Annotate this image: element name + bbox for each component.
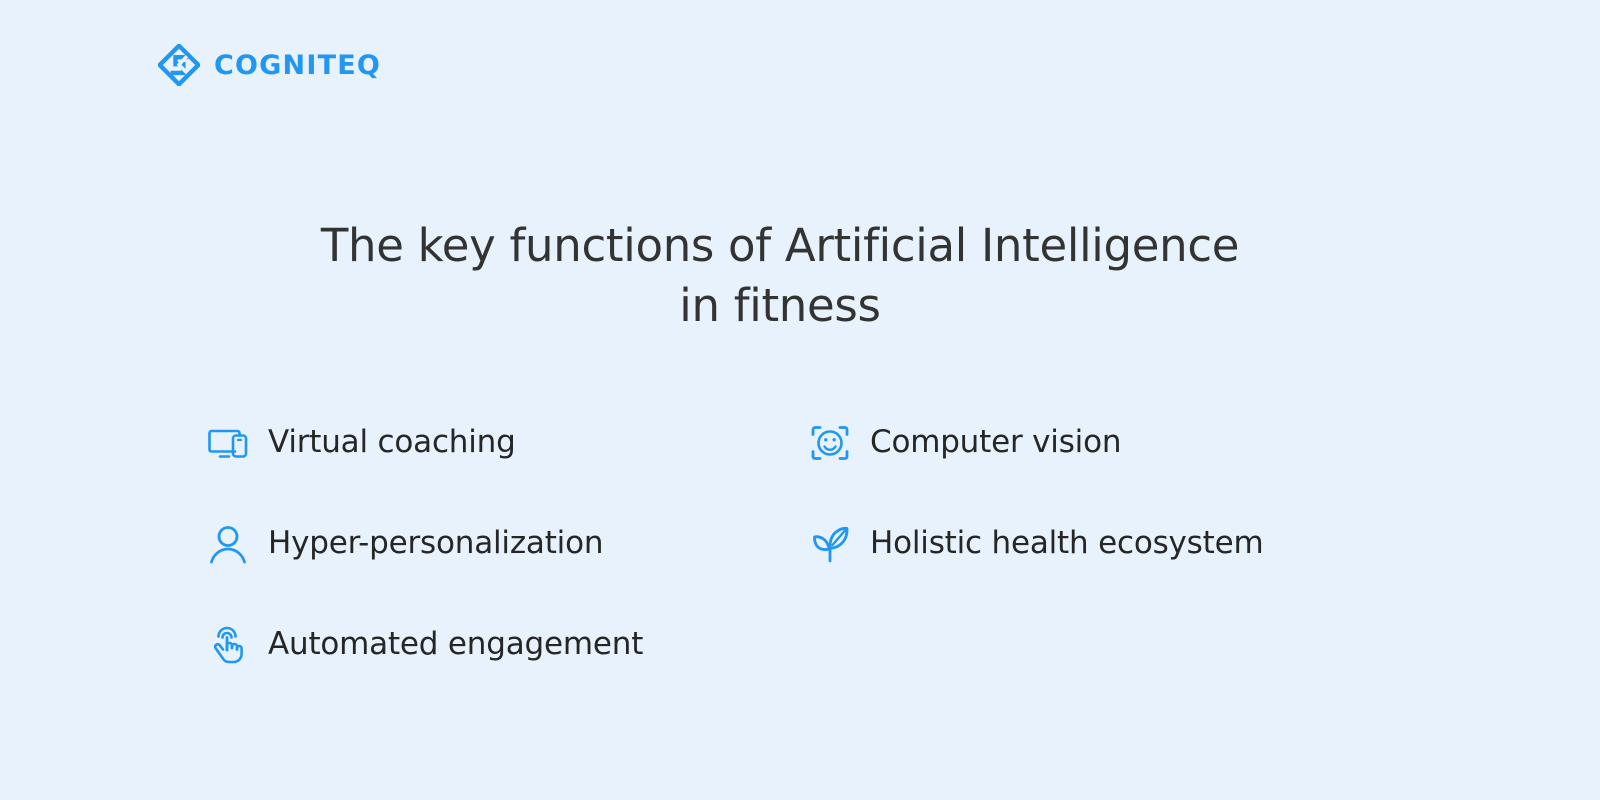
feature-list: Virtual coaching Computer vision H — [205, 392, 1385, 695]
feature-item-hyper-personalization: Hyper-personalization — [205, 493, 783, 594]
feature-item-holistic-health-ecosystem: Holistic health ecosystem — [807, 493, 1385, 594]
devices-monitor-phone-icon — [205, 420, 251, 466]
feature-item-computer-vision: Computer vision — [807, 392, 1385, 493]
feature-label: Holistic health ecosystem — [870, 525, 1263, 562]
cogniteq-diamond-logo-icon — [158, 44, 200, 86]
face-detection-scan-icon — [807, 420, 853, 466]
tap-gesture-hand-icon — [205, 622, 251, 668]
brand-logo[interactable]: COGNITEQ — [158, 44, 381, 86]
feature-label: Computer vision — [870, 424, 1121, 461]
feature-label: Hyper-personalization — [268, 525, 603, 562]
page-title: The key functions of Artificial Intellig… — [0, 216, 1560, 336]
feature-item-virtual-coaching: Virtual coaching — [205, 392, 783, 493]
page-title-line-1: The key functions of Artificial Intellig… — [0, 216, 1560, 276]
brand-name: COGNITEQ — [214, 52, 381, 79]
feature-item-automated-engagement: Automated engagement — [205, 594, 783, 695]
sprout-leaf-plant-icon — [807, 521, 853, 567]
page-title-line-2: in fitness — [0, 276, 1560, 336]
user-person-icon — [205, 521, 251, 567]
feature-label: Automated engagement — [268, 626, 643, 663]
feature-label: Virtual coaching — [268, 424, 516, 461]
